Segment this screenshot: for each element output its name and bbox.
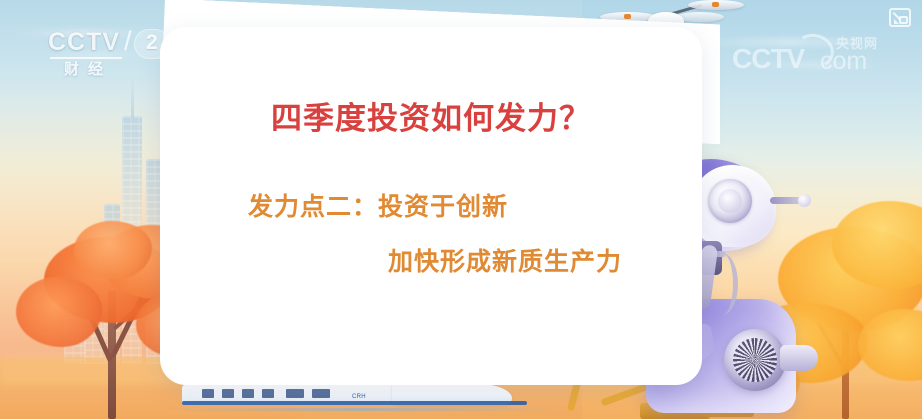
train-window — [262, 389, 274, 398]
tree-foliage — [16, 277, 102, 347]
bullet-line-1: 发力点二：投资于创新 — [248, 187, 508, 223]
train-window — [312, 389, 330, 398]
robot-eye-inner — [718, 189, 742, 213]
robot-nozzle — [780, 345, 818, 371]
page-title: 四季度投资如何发力？ — [160, 93, 702, 138]
drone-rotor-hub — [712, 2, 719, 7]
picture-in-picture-icon[interactable] — [889, 8, 911, 27]
content-card: 四季度投资如何发力？ 发力点二：投资于创新 加快形成新质生产力 — [160, 27, 702, 385]
train-brand-label: CRH — [352, 394, 366, 400]
cctv-wordmark: CCTV — [48, 28, 120, 57]
tower-spire — [131, 76, 134, 118]
broadcast-screen: CRH AI 四季度投资如何发力？ — [0, 0, 922, 419]
train-stripe — [182, 401, 527, 405]
channel-number: 2 — [146, 31, 158, 55]
drone-rotor-hub — [624, 14, 631, 19]
train-window — [222, 389, 234, 398]
robot-turbine — [724, 329, 786, 391]
train-window — [286, 389, 304, 398]
channel-name-cn: 财经 — [64, 58, 112, 79]
card-body: 四季度投资如何发力？ 发力点二：投资于创新 加快形成新质生产力 — [160, 27, 702, 385]
train-window — [202, 389, 214, 398]
bullet-line-2: 加快形成新质生产力 — [388, 242, 622, 278]
cctv-com-watermark: CCTV com 央视网 — [732, 34, 898, 76]
train-window — [242, 389, 254, 398]
robot-antenna-tip — [798, 194, 811, 207]
watermark-site-name-cn: 央视网 — [836, 33, 878, 52]
tree-foliage — [74, 221, 152, 279]
train-rail — [162, 408, 562, 411]
cctv2-logo: CCTV / 2 财经 — [48, 28, 176, 76]
pip-inner-frame — [899, 16, 908, 24]
logo-slash: / — [124, 26, 132, 57]
